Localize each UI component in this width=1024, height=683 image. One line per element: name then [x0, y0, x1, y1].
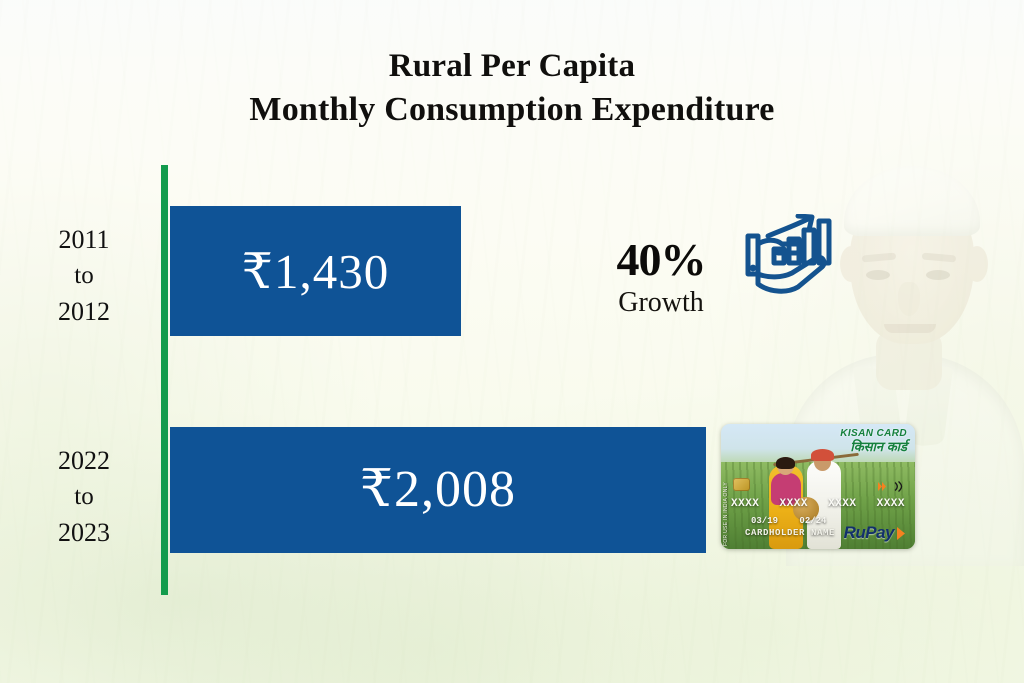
farmer-gandhi-cap	[844, 166, 980, 236]
category-label-line-2: to	[14, 258, 154, 294]
chart-axis-line	[161, 165, 168, 595]
bar-2022-2023: ₹2,008	[170, 427, 706, 553]
category-label-line-2: to	[14, 479, 154, 515]
bar-value-label: ₹2,008	[360, 464, 516, 516]
growth-percent-value: 40%	[596, 236, 726, 284]
title-line-2: Monthly Consumption Expenditure	[0, 88, 1024, 132]
farmer-ear-left	[840, 246, 862, 282]
farmer-ear-right	[966, 246, 988, 282]
card-brand-english: KISAN CARD	[840, 429, 907, 440]
bar-2011-2012: ₹1,430	[170, 206, 461, 336]
card-number-group-2: XXXX	[780, 498, 808, 510]
card-valid-thru: 02/24	[799, 516, 826, 526]
rupay-kisan-card-image: KISAN CARD किसान कार्ड FOR USE IN INDIA …	[721, 424, 915, 549]
category-label-line-3: 2023	[14, 515, 154, 551]
farmer-mouth	[884, 324, 936, 333]
hand-growth-chart-icon	[728, 214, 840, 326]
farmer-eye-left	[866, 270, 890, 280]
card-validity-dates: 03/19 02/24	[751, 516, 842, 526]
rupay-logo: RuPay	[844, 523, 907, 543]
card-number-group-3: XXXX	[828, 498, 856, 510]
card-emv-chip	[733, 478, 750, 491]
rupay-wordmark: RuPay	[844, 523, 894, 543]
farmer-nose	[898, 282, 920, 316]
icon-bar-3	[804, 230, 814, 263]
contactless-icon	[877, 480, 905, 493]
card-valid-from: 03/19	[751, 516, 778, 526]
title-line-1: Rural Per Capita	[0, 44, 1024, 88]
category-label-line-1: 2011	[14, 222, 154, 258]
contactless-chevrons-icon	[877, 480, 889, 493]
growth-callout: 40% Growth	[596, 236, 726, 320]
icon-bar-1	[774, 249, 784, 263]
category-label-2011-2012: 2011 to 2012	[14, 222, 154, 330]
contactless-waves-icon	[892, 480, 905, 493]
card-man-turban	[811, 449, 834, 461]
growth-label: Growth	[596, 286, 726, 320]
rupay-chevron-icon	[896, 526, 907, 541]
card-woman-hair	[776, 457, 795, 469]
infographic-canvas: Rural Per Capita Monthly Consumption Exp…	[0, 0, 1024, 683]
farmer-eye-right	[926, 270, 950, 280]
card-number-row: XXXX XXXX XXXX XXXX	[731, 498, 905, 510]
category-label-line-1: 2022	[14, 443, 154, 479]
page-title: Rural Per Capita Monthly Consumption Exp…	[0, 44, 1024, 132]
icon-bar-4	[819, 221, 829, 263]
card-number-group-4: XXXX	[877, 498, 905, 510]
icon-cuff-button	[750, 265, 757, 272]
category-label-2022-2023: 2022 to 2023	[14, 443, 154, 551]
card-number-group-1: XXXX	[731, 498, 759, 510]
card-holder-name: CARDHOLDER NAME	[745, 528, 835, 538]
card-vertical-text: FOR USE IN INDIA ONLY	[723, 482, 729, 546]
category-label-line-3: 2012	[14, 294, 154, 330]
bar-value-label: ₹1,430	[242, 247, 389, 296]
